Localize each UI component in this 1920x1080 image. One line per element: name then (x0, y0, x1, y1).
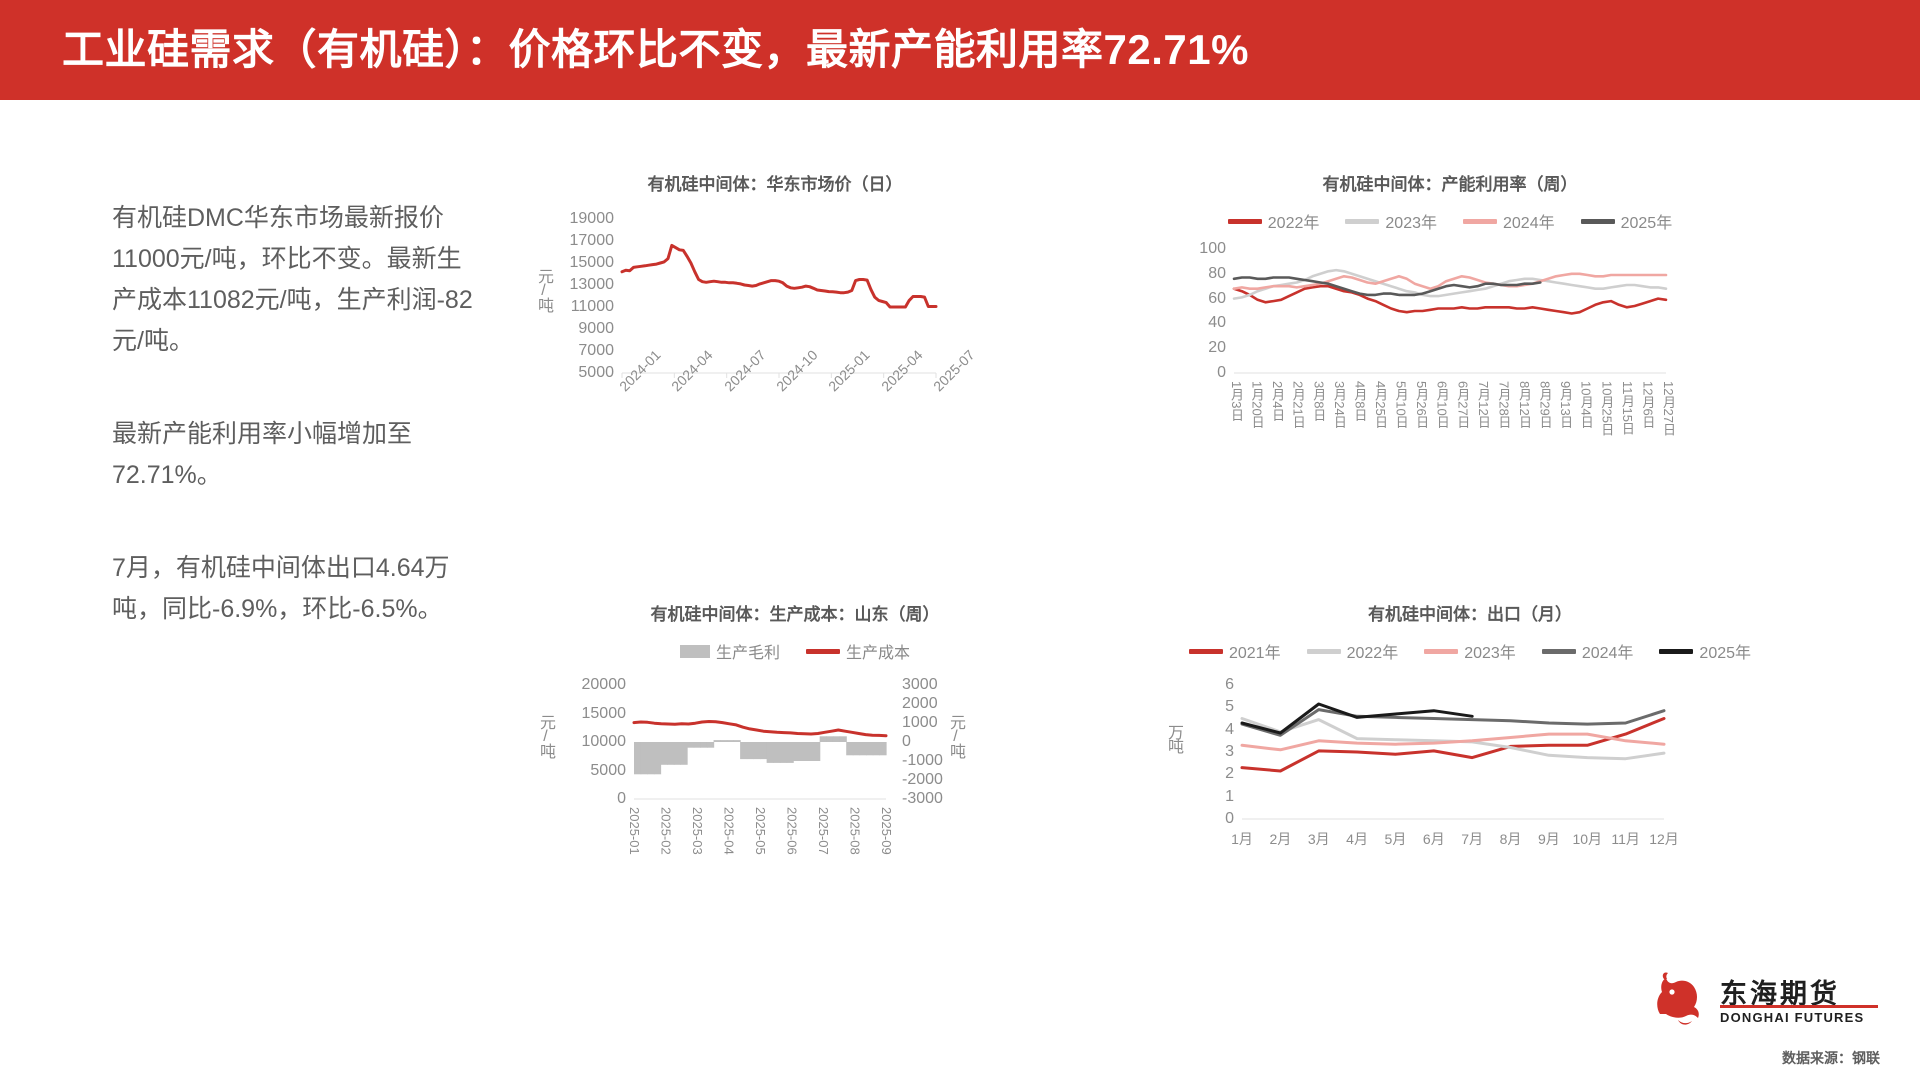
y-axis-tick-label: 1 (1225, 788, 1234, 806)
commentary-paragraph-1: 有机硅DMC华东市场最新报价11000元/吨，环比不变。最新生产成本11082元… (112, 198, 482, 362)
y-axis-tick-label: 2 (1225, 765, 1234, 783)
bar (787, 742, 794, 763)
x-axis-tick-label: 3月24日 (1330, 381, 1349, 429)
y-axis-tick-label: 11000 (571, 298, 614, 316)
chart-exports: 有机硅中间体：出口（月） 2021年2022年2023年2024年2025年 6… (1190, 600, 1750, 819)
y-axis-right-tick-label: 2000 (892, 695, 948, 713)
y-axis-tick-label: 80 (1208, 265, 1226, 283)
legend-label: 2022年 (1268, 209, 1320, 233)
legend-item[interactable]: 生产毛利 (680, 639, 780, 663)
x-axis-tick-label: 11月 (1611, 829, 1640, 849)
legend-item[interactable]: 2025年 (1581, 209, 1673, 233)
bar (826, 736, 833, 742)
y-axis-tick-label: 3 (1225, 743, 1234, 761)
x-axis-tick-label: 2月4日 (1268, 381, 1287, 421)
x-axis-tick-label: 8月 (1500, 829, 1522, 849)
x-axis-tick-label: 2025-03 (690, 807, 705, 855)
x-axis-tick-label: 2025-01 (627, 807, 642, 855)
x-axis-tick-label: 12月6日 (1638, 381, 1657, 429)
plot-area: 200001500010000500003000200010000-1000-2… (560, 679, 890, 799)
y-axis-tick-label: 10000 (582, 733, 627, 751)
y-axis-tick-label: 19000 (570, 210, 615, 228)
x-axis-tick-label: 8月29日 (1536, 381, 1555, 429)
bar (714, 740, 721, 742)
data-source-label: 数据来源：钢联 (1440, 1048, 1880, 1068)
bar (654, 742, 661, 774)
legend-label: 2022年 (1347, 639, 1399, 663)
bar (687, 742, 694, 748)
y-axis-tick-label: 0 (617, 790, 626, 808)
x-axis-tick-label: 2025-07 (816, 807, 831, 855)
legend-item[interactable]: 2023年 (1345, 209, 1437, 233)
bar (647, 742, 654, 774)
x-axis-tick-label: 4月8日 (1350, 381, 1369, 421)
legend-label: 2024年 (1503, 209, 1555, 233)
x-axis-tick-label: 1月3日 (1227, 381, 1246, 421)
y-axis-tick-label: 15000 (570, 254, 615, 272)
y-axis-tick-label: 5 (1225, 698, 1234, 716)
bar (873, 742, 880, 755)
x-axis-tick-label: 1月 (1231, 829, 1253, 849)
bar (720, 740, 727, 742)
bar (733, 740, 740, 742)
bar (707, 742, 714, 748)
x-axis-tick-label: 5月26日 (1412, 381, 1431, 429)
y-axis-tick-label: 6 (1225, 676, 1234, 694)
legend-label: 2021年 (1229, 639, 1281, 663)
x-axis-tick-label: 5月10日 (1392, 381, 1411, 429)
y-axis-tick-label: 5000 (578, 364, 614, 382)
x-axis-tick-label: 12月27日 (1659, 381, 1678, 436)
bar (680, 742, 687, 765)
legend-swatch (1542, 649, 1576, 654)
x-axis-tick-label: 2025-06 (785, 807, 800, 855)
bar (859, 742, 866, 755)
bar (820, 736, 827, 742)
bar (674, 742, 681, 765)
chart-title: 有机硅中间体：出口（月） (1190, 600, 1750, 625)
chart-legend: 2021年2022年2023年2024年2025年 (1190, 639, 1750, 663)
y-axis-tick-label: 15000 (582, 705, 627, 723)
bar (727, 740, 734, 742)
x-axis-tick-label: 9月13日 (1556, 381, 1575, 429)
legend-swatch (1463, 219, 1497, 224)
bar (773, 742, 780, 763)
legend-item[interactable]: 生产成本 (806, 639, 910, 663)
x-axis-tick-label: 10月 (1572, 829, 1602, 849)
y-axis-right-tick-label: -3000 (892, 790, 948, 808)
commentary-paragraph-3: 7月，有机硅中间体出口4.64万吨，同比-6.9%，环比-6.5%。 (112, 548, 482, 630)
bar (840, 736, 847, 742)
legend-label: 2023年 (1385, 209, 1437, 233)
x-axis-tick-label: 10月25日 (1597, 381, 1616, 436)
logo-underline (1720, 1005, 1878, 1008)
x-axis-tick-label: 3月 (1308, 829, 1330, 849)
legend-label: 生产毛利 (716, 639, 780, 663)
plot-area: 1900017000150001300011000900070005000元/吨… (560, 213, 940, 373)
chart-legend: 2022年2023年2024年2025年 (1190, 209, 1710, 233)
legend-item[interactable]: 2021年 (1189, 639, 1281, 663)
y-axis-label: 万吨 (1166, 724, 1180, 752)
series-line-2022年 (1234, 286, 1666, 313)
y-axis-right-tick-label: 3000 (892, 676, 948, 694)
bar (694, 742, 701, 748)
bar (753, 742, 760, 759)
x-axis-tick-label: 7月28日 (1494, 381, 1513, 429)
bull-logo-icon (1648, 968, 1712, 1032)
chart-title: 有机硅中间体：产能利用率（周） (1190, 170, 1710, 195)
chart-production-cost: 有机硅中间体：生产成本：山东（周） 生产毛利生产成本 2000015000100… (560, 600, 1030, 799)
x-axis-tick-label: 4月 (1346, 829, 1368, 849)
bar (853, 742, 860, 755)
y-axis-right-tick-label: 1000 (892, 714, 948, 732)
x-axis-tick-label: 7月 (1461, 829, 1483, 849)
legend-item[interactable]: 2024年 (1463, 209, 1555, 233)
x-axis-tick-label: 5月 (1385, 829, 1407, 849)
y-axis-right-label: 元/吨 (948, 714, 962, 757)
legend-label: 2025年 (1699, 639, 1751, 663)
y-axis-label: 元/吨 (538, 714, 552, 757)
x-axis-tick-label: 3月8日 (1309, 381, 1328, 421)
x-axis-tick-label: 11月15日 (1618, 381, 1637, 435)
y-axis-tick-label: 17000 (570, 232, 615, 250)
y-axis-tick-label: 13000 (570, 276, 615, 294)
plot-area: 6543210万吨1月2月3月4月5月6月7月8月9月10月11月12月 (1190, 679, 1670, 819)
bar (634, 742, 641, 774)
x-axis-tick-label: 6月 (1423, 829, 1445, 849)
legend-swatch (1659, 649, 1693, 654)
x-axis-tick-label: 2025-08 (848, 807, 863, 855)
plot-area: 1008060402001月3日1月20日2月4日2月21日3月8日3月24日4… (1190, 243, 1670, 373)
commentary-paragraph-2: 最新产能利用率小幅增加至72.71%。 (112, 414, 482, 496)
x-axis-tick-label: 7月12日 (1474, 381, 1493, 429)
bar (667, 742, 674, 765)
x-axis-tick-label: 2025-09 (879, 807, 894, 855)
y-axis-tick-label: 5000 (590, 762, 626, 780)
chart-capacity-utilization: 有机硅中间体：产能利用率（周） 2022年2023年2024年2025年 100… (1190, 170, 1710, 373)
chart-legend: 生产毛利生产成本 (560, 639, 1030, 663)
bar (806, 742, 813, 761)
y-axis-tick-label: 60 (1208, 290, 1226, 308)
chart-svg (1190, 243, 1670, 373)
bar (780, 742, 787, 763)
bar (793, 742, 800, 761)
y-axis-tick-label: 7000 (578, 342, 614, 360)
chart-title: 有机硅中间体：华东市场价（日） (560, 170, 990, 195)
x-axis-tick-label: 9月 (1538, 829, 1560, 849)
y-axis-tick-label: 4 (1225, 721, 1234, 739)
bar (661, 742, 668, 765)
series-line-华东市场价 (622, 245, 936, 307)
legend-item[interactable]: 2022年 (1307, 639, 1399, 663)
x-axis-tick-label: 2025-02 (659, 807, 674, 855)
legend-swatch (1307, 649, 1341, 654)
chart-title: 有机硅中间体：生产成本：山东（周） (560, 600, 1030, 625)
bar (641, 742, 648, 774)
y-axis-right-tick-label: 0 (892, 733, 948, 751)
y-axis-tick-label: 0 (1217, 364, 1226, 382)
bar (740, 742, 747, 759)
legend-swatch (1424, 649, 1458, 654)
x-axis-tick-label: 8月12日 (1515, 381, 1534, 429)
bar (833, 736, 840, 742)
x-axis-tick-label: 1月20日 (1248, 381, 1267, 429)
bar (760, 742, 767, 759)
y-axis-tick-label: 0 (1225, 810, 1234, 828)
y-axis-tick-label: 20 (1208, 339, 1226, 357)
bar (879, 742, 886, 755)
legend-label: 2024年 (1582, 639, 1634, 663)
commentary-panel: 有机硅DMC华东市场最新报价11000元/吨，环比不变。最新生产成本11082元… (112, 198, 482, 630)
logo-text-en: DONGHAI FUTURES (1720, 1010, 1864, 1025)
legend-swatch (1581, 219, 1615, 224)
legend-item[interactable]: 2022年 (1228, 209, 1320, 233)
legend-label: 2025年 (1621, 209, 1673, 233)
x-axis-tick-label: 2月21日 (1289, 381, 1308, 429)
legend-label: 生产成本 (846, 639, 910, 663)
chart-svg (1190, 679, 1670, 819)
x-axis-tick-label: 4月25日 (1371, 381, 1390, 429)
legend-swatch (1189, 649, 1223, 654)
legend-swatch (680, 645, 710, 658)
bar (747, 742, 754, 759)
bar (800, 742, 807, 761)
y-axis-tick-label: 9000 (578, 320, 614, 338)
y-axis-tick-label: 100 (1199, 240, 1226, 258)
x-axis-tick-label: 6月10日 (1433, 381, 1452, 429)
legend-item[interactable]: 2024年 (1542, 639, 1634, 663)
legend-item[interactable]: 2023年 (1424, 639, 1516, 663)
x-axis-tick-label: 2025-04 (722, 807, 737, 855)
legend-label: 2023年 (1464, 639, 1516, 663)
x-axis-tick-label: 10月4日 (1577, 381, 1596, 429)
y-axis-label: 元/吨 (536, 268, 550, 311)
y-axis-right-tick-label: -1000 (892, 752, 948, 770)
bar (813, 742, 820, 761)
x-axis-tick-label: 2月 (1269, 829, 1291, 849)
y-axis-tick-label: 40 (1208, 314, 1226, 332)
y-axis-tick-label: 20000 (582, 676, 627, 694)
x-axis-tick-label: 6月27日 (1453, 381, 1472, 429)
page-title: 工业硅需求（有机硅）：价格环比不变，最新产能利用率72.71% (62, 20, 1249, 80)
series-line-生产成本 (634, 722, 886, 736)
chart-svg (560, 213, 940, 373)
legend-swatch (806, 649, 840, 654)
bar (700, 742, 707, 748)
bar (846, 742, 853, 755)
x-axis-tick-label: 2025-05 (753, 807, 768, 855)
x-axis-tick-label: 12月 (1649, 829, 1679, 849)
y-axis-right-tick-label: -2000 (892, 771, 948, 789)
bar (767, 742, 774, 763)
company-logo: 东海期货 DONGHAI FUTURES (1648, 968, 1878, 1036)
legend-swatch (1345, 219, 1379, 224)
chart-east-china-price: 有机硅中间体：华东市场价（日） 190001700015000130001100… (560, 170, 990, 373)
bar (866, 742, 873, 755)
legend-swatch (1228, 219, 1262, 224)
legend-item[interactable]: 2025年 (1659, 639, 1751, 663)
